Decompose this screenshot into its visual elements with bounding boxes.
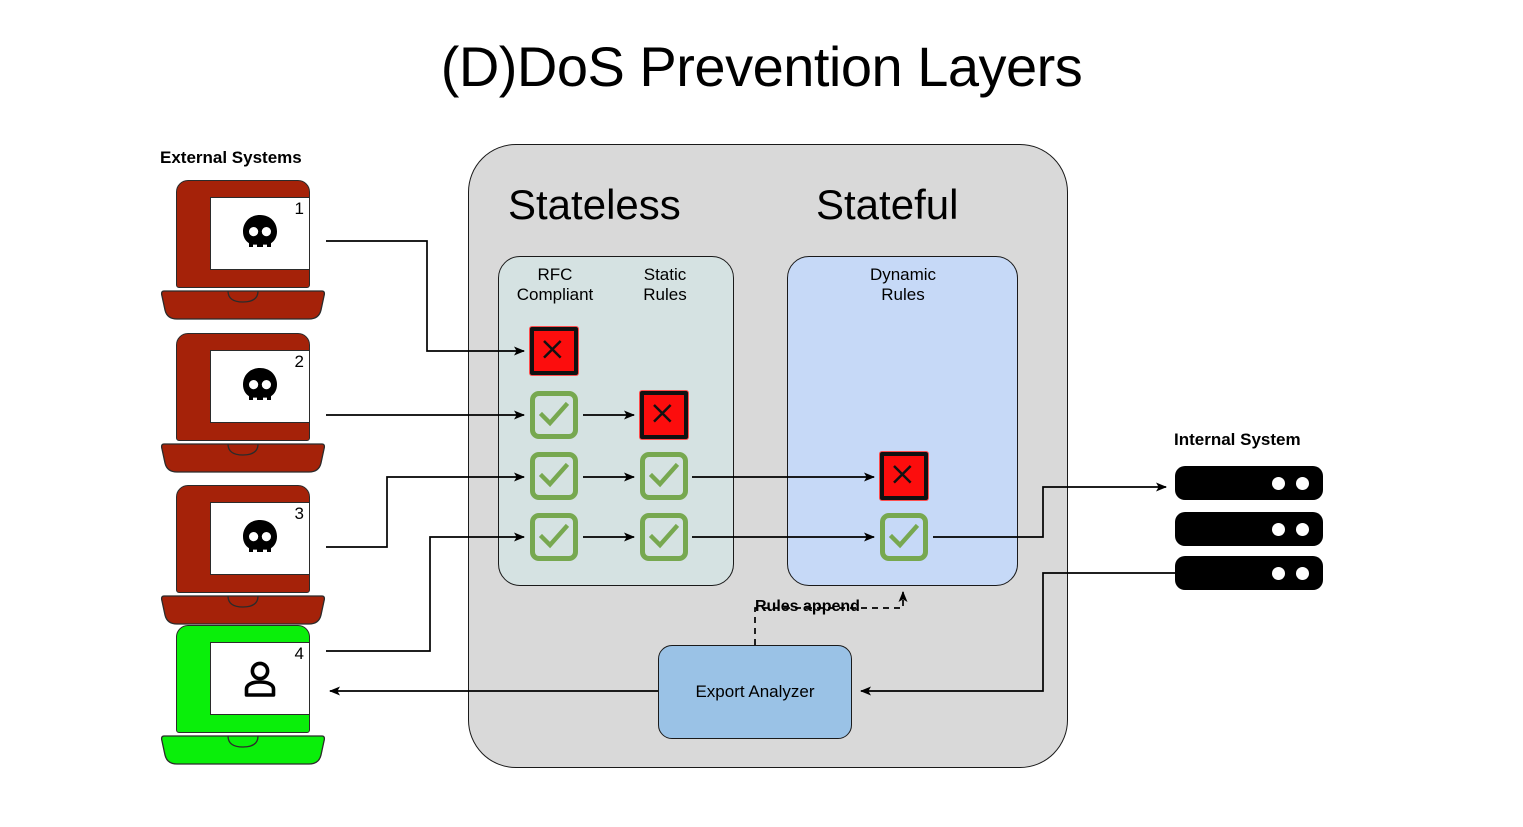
laptop-external-1[interactable]: 1 — [160, 180, 326, 320]
export-analyzer-node[interactable]: Export Analyzer — [658, 645, 852, 739]
verdict-static-row3-pass[interactable] — [640, 452, 688, 500]
check-icon — [645, 457, 683, 495]
wire-dynamic-to-server1 — [933, 487, 1166, 537]
laptop-screen: 3 — [210, 502, 310, 575]
skull-icon — [238, 212, 282, 256]
verdict-rfc-row1-fail[interactable] — [530, 327, 578, 375]
laptop-external-3[interactable]: 3 — [160, 485, 326, 625]
skull-icon — [238, 517, 282, 561]
laptop-base — [160, 443, 326, 473]
check-icon — [645, 518, 683, 556]
skull-icon — [238, 365, 282, 409]
verdict-static-row2-fail[interactable] — [640, 391, 688, 439]
laptop-lid: 2 — [176, 333, 310, 441]
server-unit-2[interactable] — [1175, 512, 1323, 546]
check-icon — [535, 518, 573, 556]
laptop-screen: 2 — [210, 350, 310, 423]
verdict-static-row4-pass[interactable] — [640, 513, 688, 561]
check-icon — [535, 396, 573, 434]
export-analyzer-label: Export Analyzer — [695, 682, 814, 702]
cross-icon — [884, 456, 924, 496]
server-led-icon — [1296, 477, 1309, 490]
laptop-lid: 4 — [176, 625, 310, 733]
user-icon — [238, 657, 282, 701]
server-led-icon — [1272, 523, 1285, 536]
caption-internal-system: Internal System — [1174, 430, 1301, 450]
laptop-number-label: 2 — [295, 352, 304, 371]
server-unit-1[interactable] — [1175, 466, 1323, 500]
verdict-rfc-row3-pass[interactable] — [530, 452, 578, 500]
cross-icon — [534, 331, 574, 371]
laptop-base — [160, 595, 326, 625]
laptop-lid: 3 — [176, 485, 310, 593]
laptop-number-label: 3 — [295, 504, 304, 523]
verdict-dynamic-row4-pass[interactable] — [880, 513, 928, 561]
check-icon — [535, 457, 573, 495]
check-icon — [885, 518, 923, 556]
wire-server3-to-analyzer — [861, 573, 1175, 691]
laptop-base — [160, 735, 326, 765]
server-led-icon — [1272, 567, 1285, 580]
laptop-base — [160, 290, 326, 320]
verdict-rfc-row4-pass[interactable] — [530, 513, 578, 561]
server-unit-3[interactable] — [1175, 556, 1323, 590]
laptop-external-4[interactable]: 4 — [160, 625, 326, 765]
laptop-screen: 4 — [210, 642, 310, 715]
server-led-icon — [1296, 523, 1309, 536]
wire-laptop4-to-rfc — [326, 537, 524, 651]
cross-icon — [644, 395, 684, 435]
verdict-rfc-row2-pass[interactable] — [530, 391, 578, 439]
laptop-screen: 1 — [210, 197, 310, 270]
laptop-lid: 1 — [176, 180, 310, 288]
verdict-dynamic-row3-fail[interactable] — [880, 452, 928, 500]
server-led-icon — [1296, 567, 1309, 580]
laptop-number-label: 4 — [295, 644, 304, 663]
annotation-rules-append: Rules append — [755, 598, 860, 616]
server-led-icon — [1272, 477, 1285, 490]
laptop-external-2[interactable]: 2 — [160, 333, 326, 473]
wire-laptop1-to-rfc — [326, 241, 524, 351]
laptop-number-label: 1 — [295, 199, 304, 218]
caption-external-systems: External Systems — [160, 148, 302, 168]
diagram-canvas: (D)DoS Prevention Layers Stateless State… — [0, 0, 1523, 827]
